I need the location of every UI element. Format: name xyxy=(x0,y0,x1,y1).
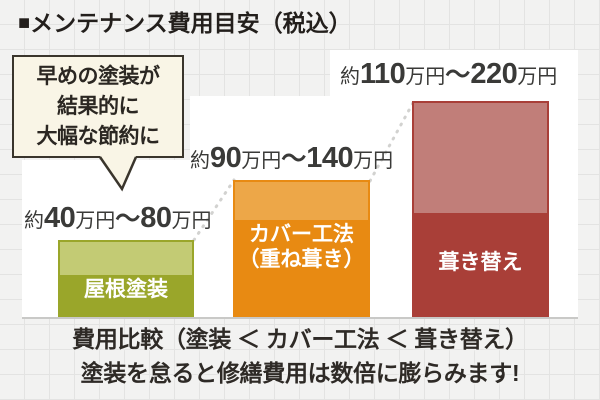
bar-label-re-roofing: 葺き替え xyxy=(439,250,523,275)
bar-segment-upper-reroof xyxy=(412,101,549,213)
title-bullet-icon: ■ xyxy=(18,12,30,34)
price-label-re-roofing: 約110万円～220万円 xyxy=(340,60,557,89)
price-min-cover: 90 xyxy=(210,142,241,174)
callout-text: 早めの塗装が 結果的に 大幅な節約に xyxy=(37,62,160,152)
bar-cover-method[interactable]: カバー工法 （重ね葺き） xyxy=(233,180,370,317)
price-max-cover: 140 xyxy=(306,142,353,174)
page-title: ■メンテナンス費用目安（税込） xyxy=(18,8,352,38)
price-label-cover-method: 約90万円～140万円 xyxy=(190,144,393,173)
price-unit-min-reroof: 万円 xyxy=(405,66,445,88)
price-prefix-cover: 約 xyxy=(190,150,210,172)
price-range-separator-reroof: ～ xyxy=(445,61,470,89)
price-prefix-paint: 約 xyxy=(24,210,44,232)
bar-re-roofing[interactable]: 葺き替え xyxy=(412,101,549,317)
bar-segment-lower-paint: 屋根塗装 xyxy=(58,275,194,317)
price-unit-max-cover: 万円 xyxy=(353,150,393,172)
infographic-canvas: ■メンテナンス費用目安（税込） 屋根塗装 カバー工法 （重ね葺き） 葺き替え 約… xyxy=(0,0,600,400)
callout-bubble: 早めの塗装が 結果的に 大幅な節約に xyxy=(12,55,184,158)
price-max-paint: 80 xyxy=(140,202,171,234)
title-text: メンテナンス費用目安（税込） xyxy=(30,10,352,36)
price-range-separator-cover: ～ xyxy=(281,145,306,173)
bar-roof-painting[interactable]: 屋根塗装 xyxy=(58,240,194,317)
bar-label-roof-painting: 屋根塗装 xyxy=(84,277,168,302)
price-max-reroof: 220 xyxy=(470,58,517,90)
price-range-separator-paint: ～ xyxy=(115,205,140,233)
price-min-paint: 40 xyxy=(44,202,75,234)
bar-segment-upper-cover xyxy=(233,180,370,220)
price-unit-max-paint: 万円 xyxy=(172,210,212,232)
bar-segment-lower-cover: カバー工法 （重ね葺き） xyxy=(233,220,370,317)
price-min-reroof: 110 xyxy=(360,58,405,90)
price-unit-max-reroof: 万円 xyxy=(517,66,557,88)
callout-bubble-tail-icon xyxy=(98,156,138,192)
bar-segment-lower-reroof: 葺き替え xyxy=(412,213,549,317)
footer-caption: 費用比較（塗装 ＜ カバー工法 ＜ 葺き替え） 塗装を怠ると修繕費用は数倍に膨ら… xyxy=(0,322,600,390)
price-label-roof-painting: 約40万円～80万円 xyxy=(24,204,212,233)
price-unit-min-cover: 万円 xyxy=(241,150,281,172)
bar-segment-upper-paint xyxy=(58,240,194,275)
price-prefix-reroof: 約 xyxy=(340,66,360,88)
bar-label-cover-method: カバー工法 （重ね葺き） xyxy=(239,222,365,272)
chart-baseline xyxy=(22,317,578,319)
price-unit-min-paint: 万円 xyxy=(75,210,115,232)
